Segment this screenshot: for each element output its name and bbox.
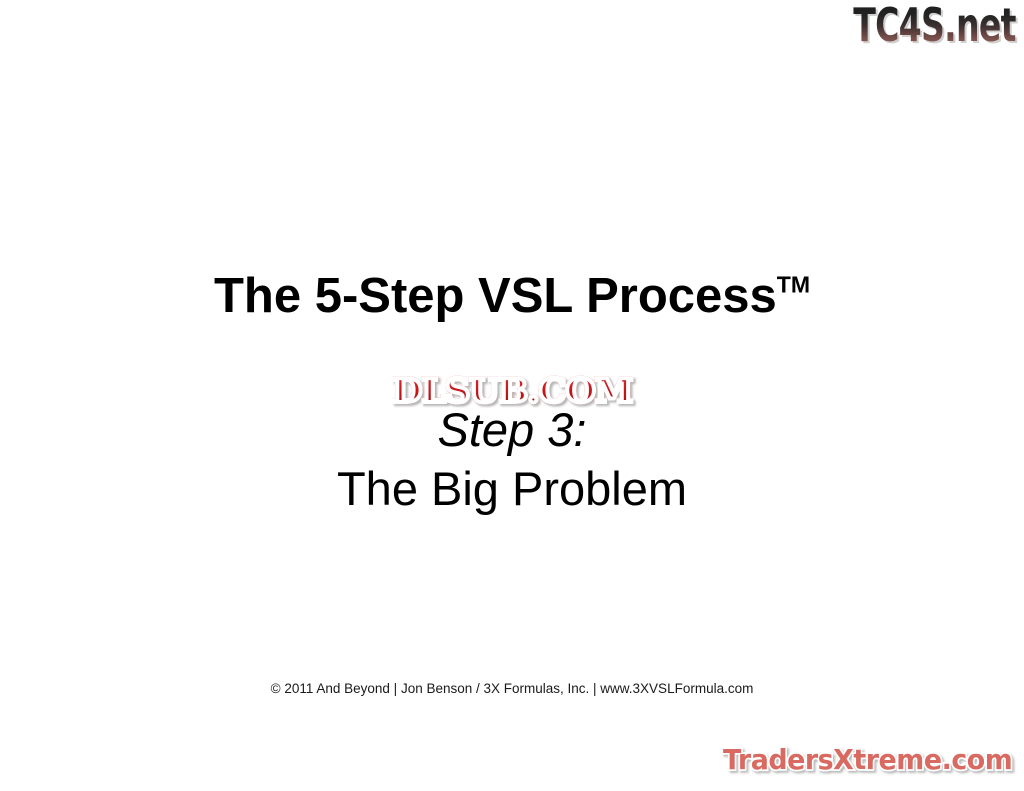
watermark-tradersxtreme-com-text: TradersXtreme.com: [723, 746, 1012, 774]
presentation-slide: TC4S.net TC4S.net The 5-Step VSL Process…: [0, 0, 1024, 791]
slide-subtitle-topic: The Big Problem: [0, 465, 1024, 512]
watermark-tc4s-net-text: TC4S.net: [854, 2, 1016, 48]
slide-footer: © 2011 And Beyond | Jon Benson / 3X Form…: [0, 682, 1024, 696]
slide-title: The 5-Step VSL ProcessTM: [0, 272, 1024, 321]
watermark-tradersxtreme-com: TradersXtreme.com: [717, 746, 1018, 774]
slide-subtitle-step: Step 3:: [0, 406, 1024, 453]
trademark-symbol: TM: [777, 271, 810, 297]
slide-title-text: The 5-Step VSL Process: [214, 269, 777, 323]
